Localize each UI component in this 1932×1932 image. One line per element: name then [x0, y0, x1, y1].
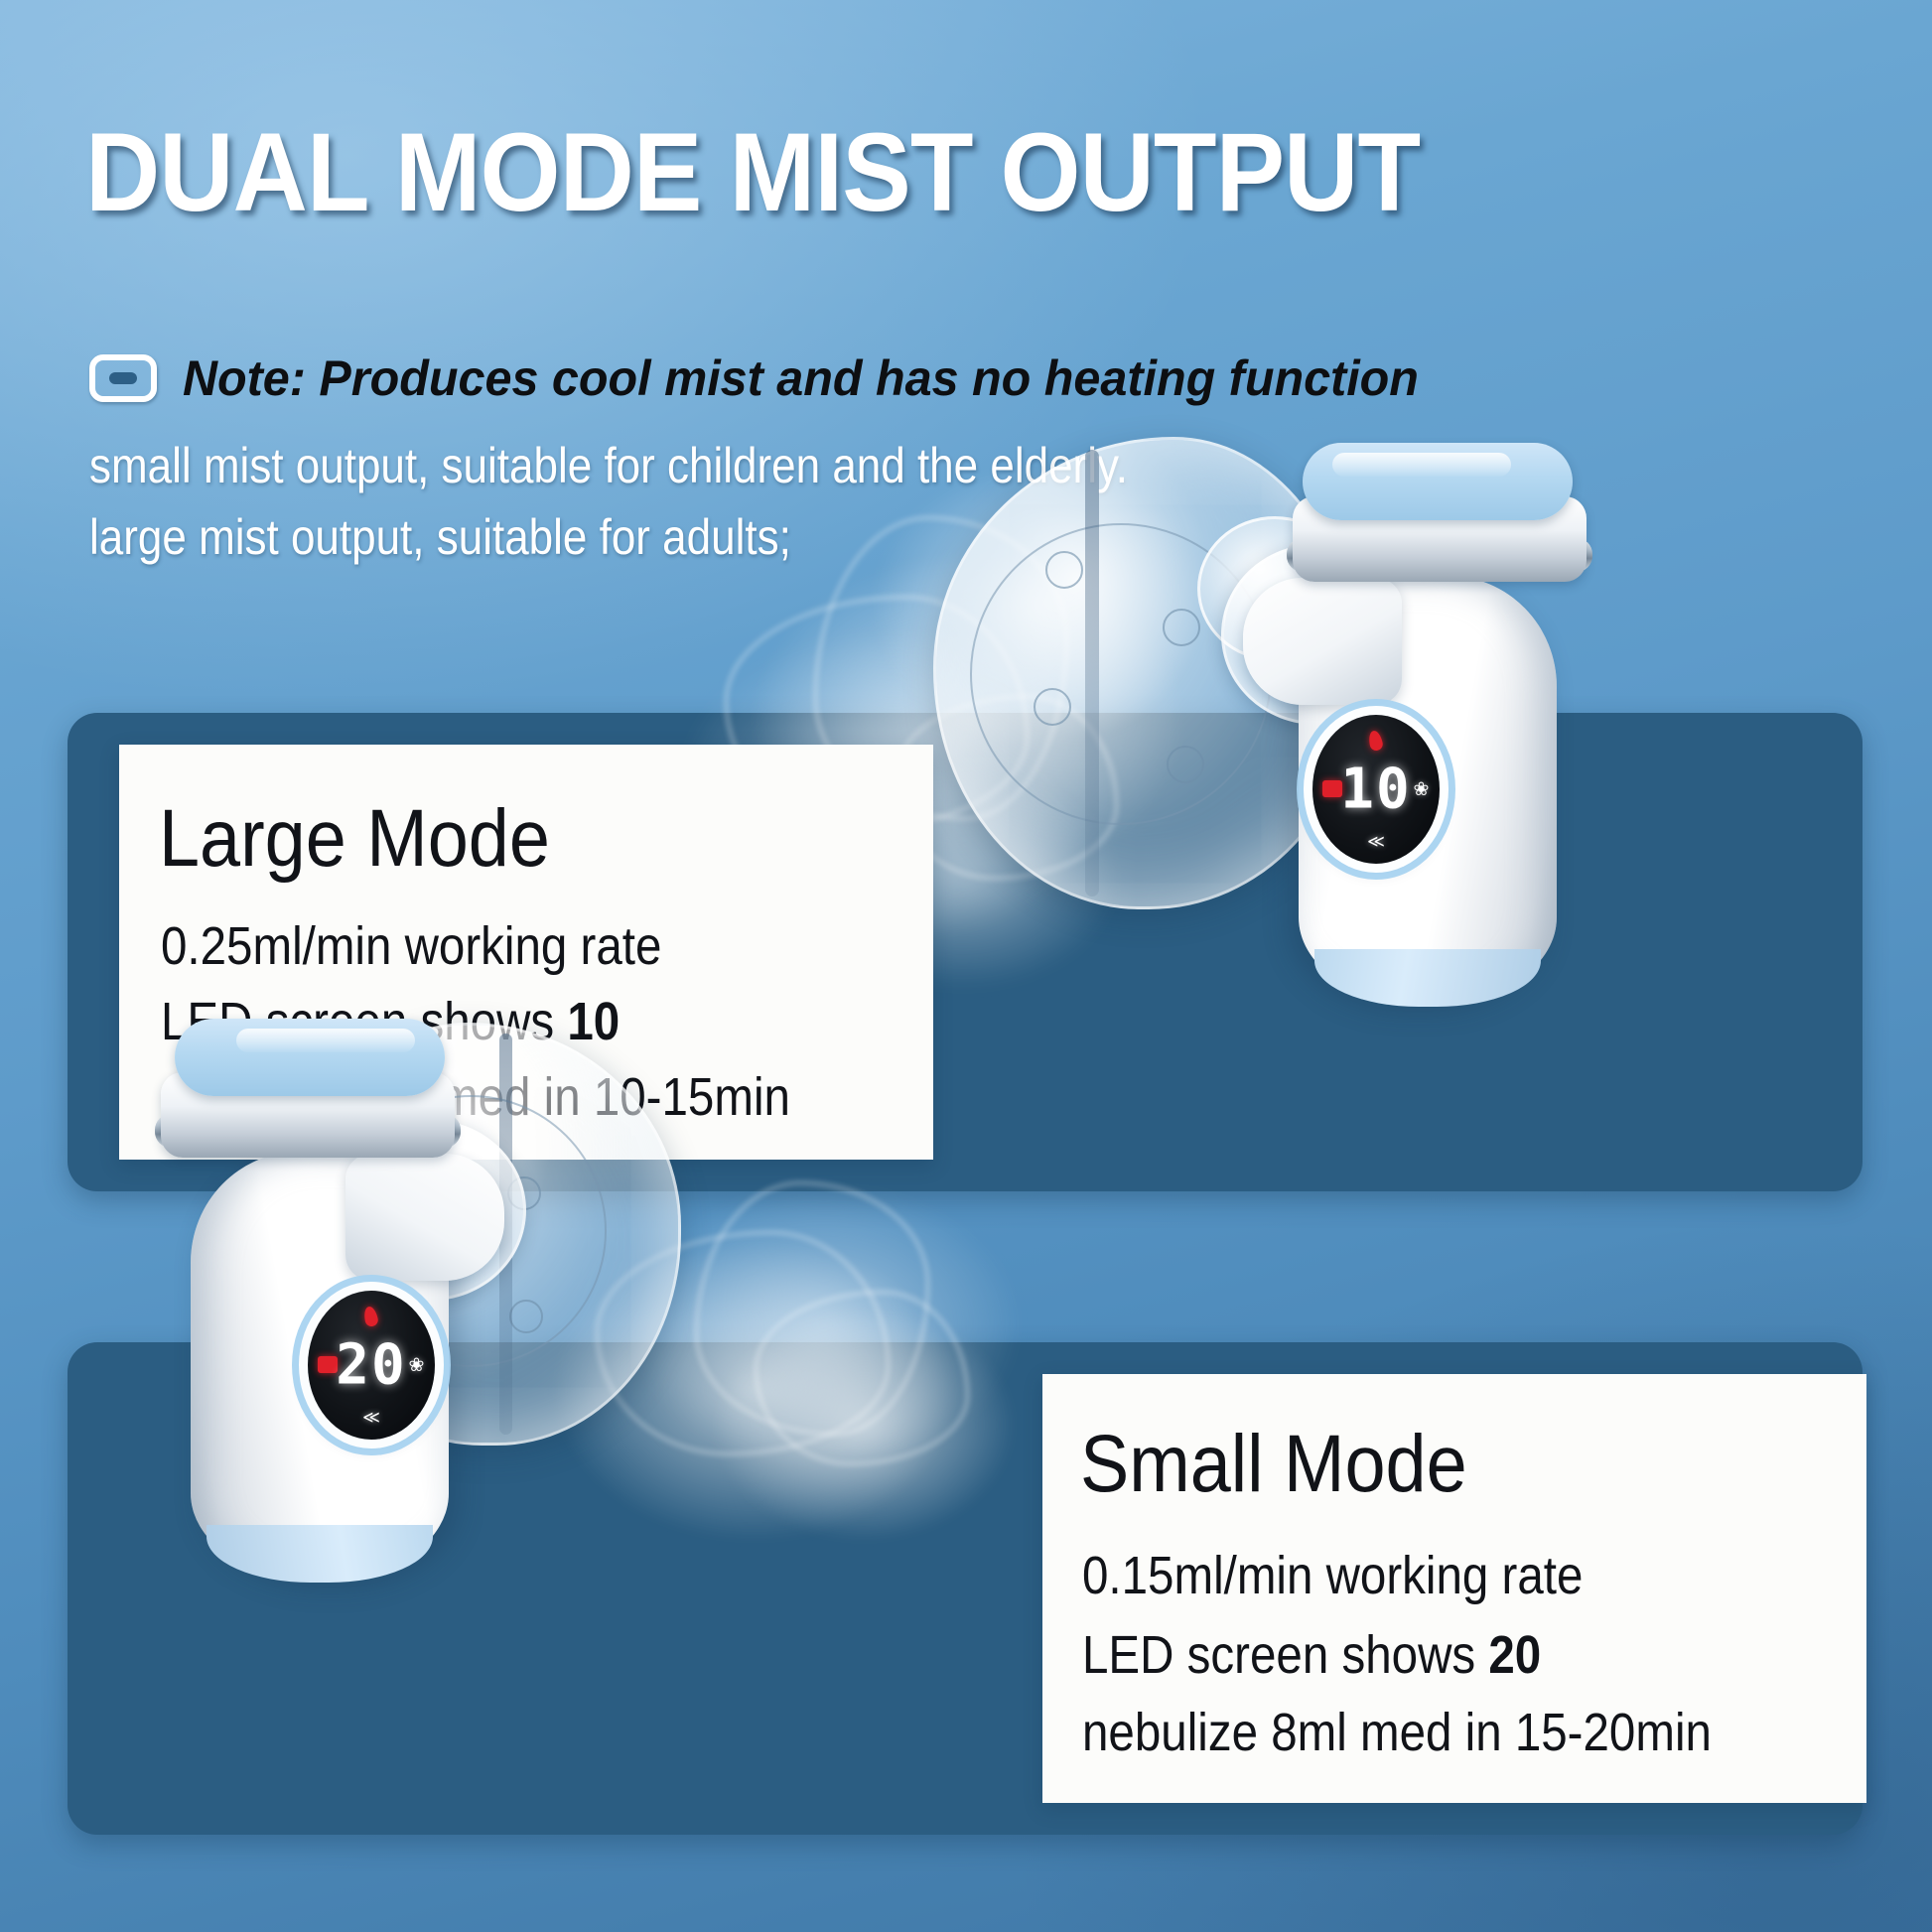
mask-hole-icon	[1163, 609, 1200, 646]
led-reading: 20	[336, 1333, 406, 1398]
small-mode-led-value: 20	[1488, 1625, 1541, 1685]
led-display-small[interactable]: 20 ❀ ≪	[308, 1291, 435, 1440]
led-display-large[interactable]: 10 ❀ ≪	[1312, 715, 1440, 864]
water-drop-icon	[362, 1306, 379, 1327]
note-text: Note: Produces cool mist and has no heat…	[183, 349, 1419, 407]
mask-hole-icon	[1045, 551, 1083, 589]
device-neck	[1243, 578, 1402, 705]
fan-icon: ≪	[359, 1410, 383, 1426]
device-base	[207, 1525, 433, 1583]
device-cap-sheen	[1332, 453, 1511, 477]
product-infographic: DUAL MODE MIST OUTPUT Note: Produces coo…	[0, 0, 1932, 1932]
page-title: DUAL MODE MIST OUTPUT	[85, 117, 1711, 228]
small-mode-led-prefix: LED screen shows	[1082, 1625, 1488, 1685]
small-mode-led-line: LED screen shows 20	[1082, 1624, 1541, 1686]
mask-hole-icon	[1034, 688, 1071, 726]
small-mode-duration: nebulize 8ml med in 15-20min	[1082, 1702, 1712, 1763]
led-reading: 10	[1340, 758, 1411, 822]
small-mode-rate: 0.15ml/min working rate	[1082, 1545, 1583, 1606]
mist-icon: ❀	[407, 1356, 426, 1375]
small-mode-card: Small Mode 0.15ml/min working rate LED s…	[1042, 1374, 1866, 1803]
water-drop-icon	[1367, 730, 1384, 752]
mist-icon: ❀	[1412, 780, 1431, 799]
device-cap-sheen	[236, 1029, 415, 1052]
battery-icon	[1322, 780, 1342, 797]
large-mode-title: Large Mode	[159, 792, 550, 886]
nebulizer-device-large: 10 ❀ ≪	[1241, 427, 1638, 1013]
mask-strap	[1085, 450, 1099, 897]
device-neck	[345, 1154, 504, 1281]
note-row: Note: Produces cool mist and has no heat…	[89, 349, 1456, 407]
pill-bullet-icon	[89, 354, 157, 402]
small-mode-title: Small Mode	[1080, 1418, 1467, 1511]
mask-hole-icon	[509, 1300, 543, 1333]
battery-icon	[318, 1356, 338, 1373]
large-mode-led-value: 10	[567, 992, 620, 1051]
large-mode-rate: 0.25ml/min working rate	[161, 915, 661, 977]
mask-hole-icon	[1167, 746, 1204, 783]
nebulizer-device-small: 20 ❀ ≪	[109, 1003, 506, 1588]
fan-icon: ≪	[1364, 834, 1388, 850]
device-base	[1314, 949, 1541, 1007]
